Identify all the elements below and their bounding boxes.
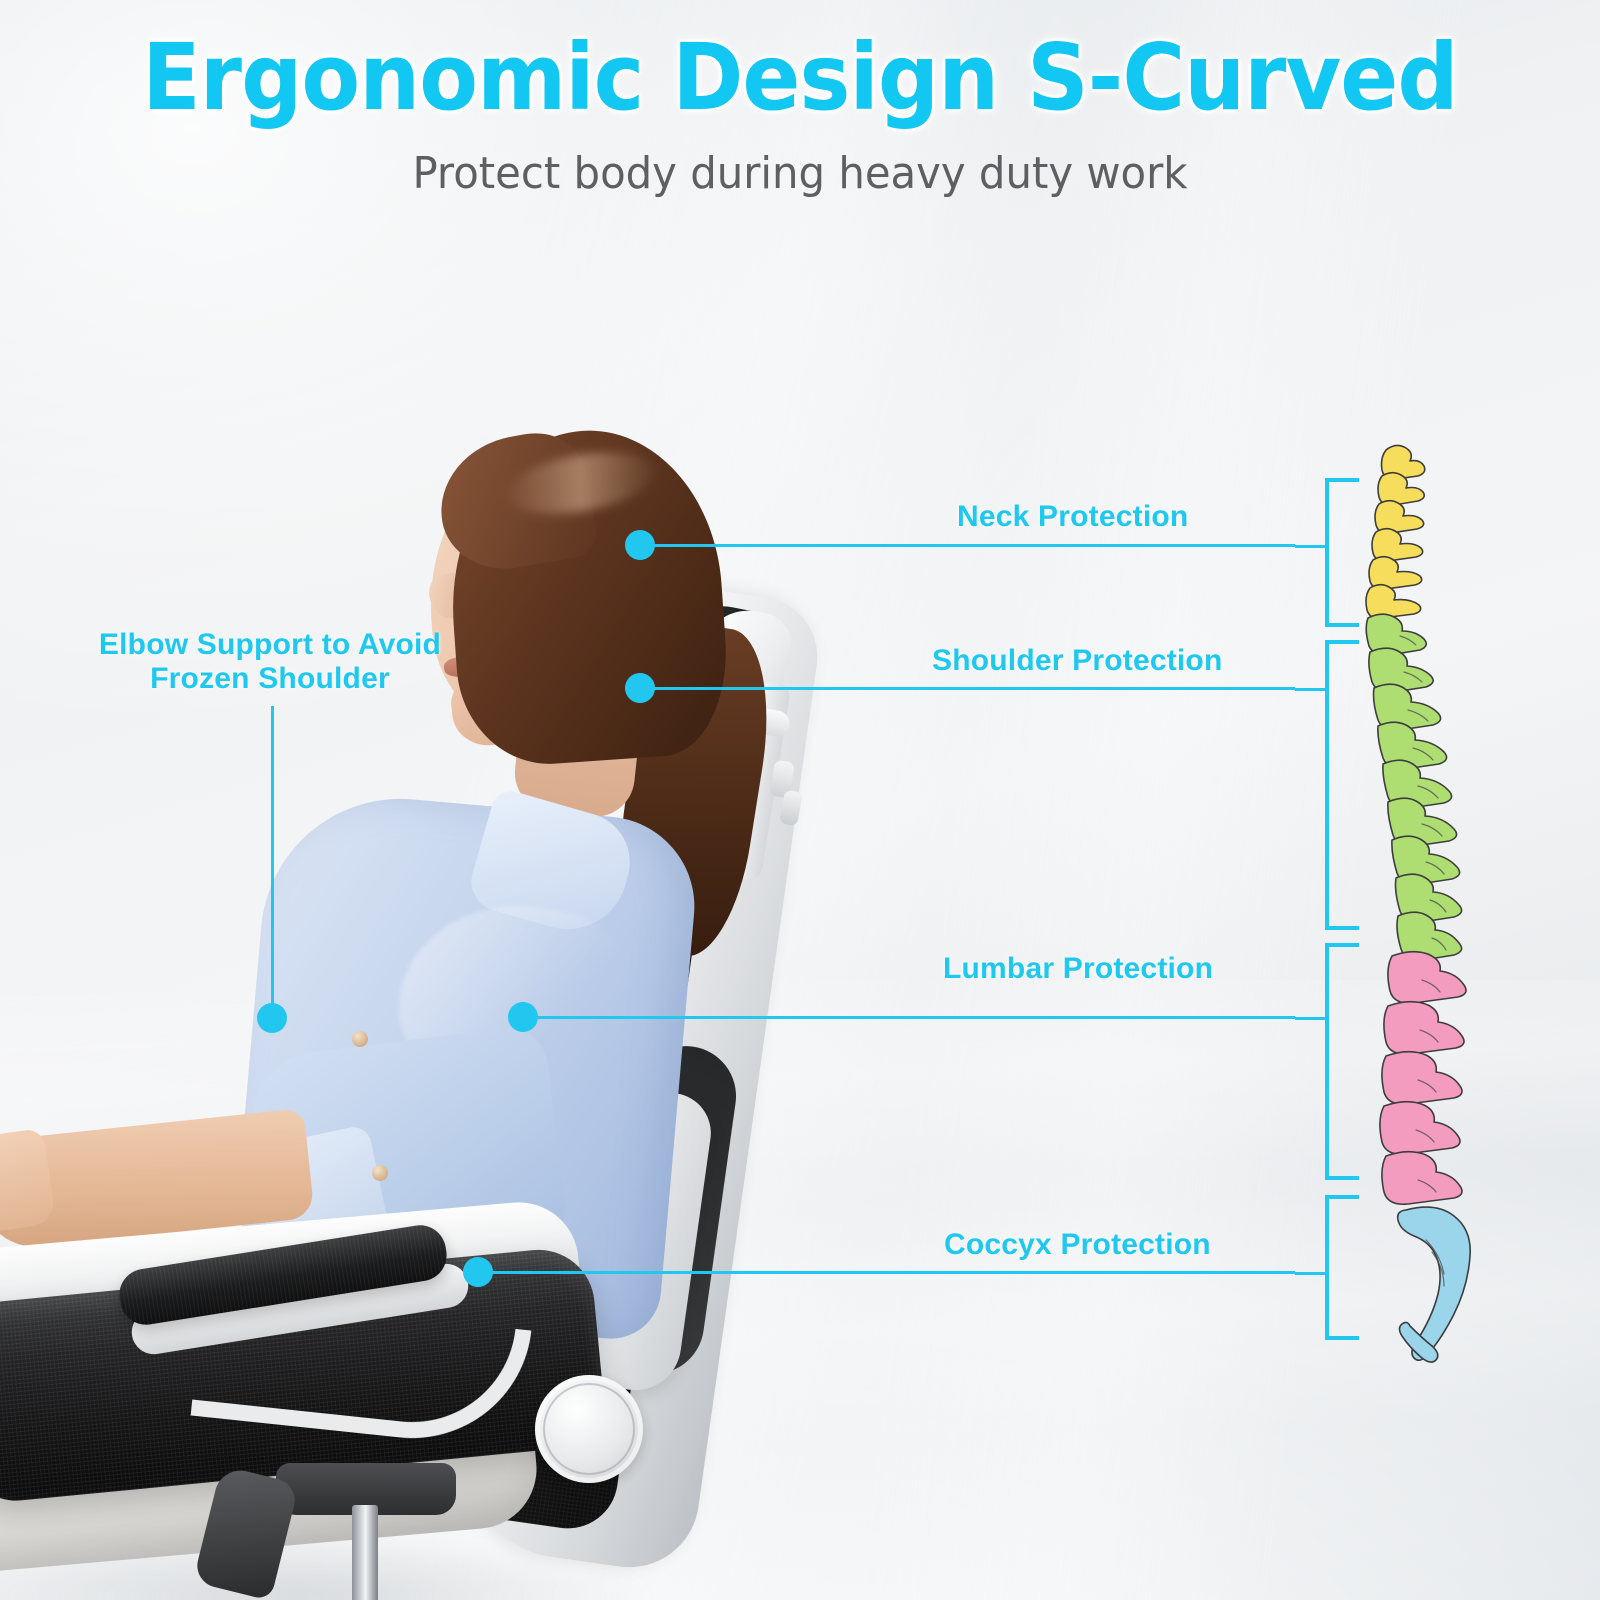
leader-line-shoulder <box>652 687 1295 690</box>
bracket-lumbar <box>1295 943 1359 1180</box>
bracket-arm <box>1295 1272 1327 1275</box>
spine-illustration <box>1340 440 1580 1370</box>
callout-dot-coccyx[interactable] <box>463 1257 493 1287</box>
knob-ring <box>543 1383 635 1475</box>
shirt-button-upper <box>352 1031 368 1047</box>
bracket-spine <box>1325 943 1329 1180</box>
page-title: Ergonomic Design S-Curved <box>56 24 1544 131</box>
bracket-tick-top <box>1325 640 1359 644</box>
bracket-spine <box>1325 478 1329 627</box>
shirt-button-cuff <box>372 1165 388 1181</box>
chair-gas-lift-cylinder <box>352 1505 378 1600</box>
bracket-tick-bottom <box>1325 1336 1359 1340</box>
callout-label-elbow-support: Elbow Support to Avoid Frozen Shoulder <box>70 628 470 695</box>
infographic-stage: Ergonomic Design S-Curved Protect body d… <box>0 0 1600 1600</box>
chair-tension-knob[interactable] <box>535 1375 643 1483</box>
callout-label-elbow-line2: Frozen Shoulder <box>70 662 470 696</box>
callout-dot-neck[interactable] <box>625 530 655 560</box>
leader-line-lumbar <box>535 1016 1295 1019</box>
callout-label-neck-protection: Neck Protection <box>957 500 1188 534</box>
bracket-spine <box>1325 1195 1329 1340</box>
bracket-tick-bottom <box>1325 926 1359 930</box>
bracket-arm <box>1295 545 1327 548</box>
leader-line-coccyx <box>490 1271 1295 1274</box>
bracket-spine <box>1325 640 1329 930</box>
bracket-tick-top <box>1325 1195 1359 1199</box>
callout-dot-elbow[interactable] <box>257 1003 287 1033</box>
bracket-tick-bottom <box>1325 623 1359 627</box>
bracket-tick-top <box>1325 478 1359 482</box>
leader-line-elbow <box>271 706 274 1018</box>
bracket-cervical <box>1295 478 1359 627</box>
callout-label-coccyx-protection: Coccyx Protection <box>944 1228 1211 1262</box>
bracket-sacrum <box>1295 1195 1359 1340</box>
page-subtitle: Protect body during heavy duty work <box>40 148 1560 199</box>
bracket-tick-bottom <box>1325 1176 1359 1180</box>
callout-dot-shoulder[interactable] <box>625 673 655 703</box>
product-photo-woman-on-chair <box>0 205 760 1600</box>
bracket-tick-top <box>1325 943 1359 947</box>
callout-label-shoulder-protection: Shoulder Protection <box>932 644 1223 678</box>
callout-label-elbow-line1: Elbow Support to Avoid <box>70 628 470 662</box>
bracket-arm <box>1295 1017 1327 1020</box>
callout-dot-lumbar[interactable] <box>508 1002 538 1032</box>
leader-line-neck <box>652 544 1295 547</box>
bracket-arm <box>1295 688 1327 691</box>
callout-label-lumbar-protection: Lumbar Protection <box>943 952 1213 986</box>
bracket-thoracic <box>1295 640 1359 930</box>
